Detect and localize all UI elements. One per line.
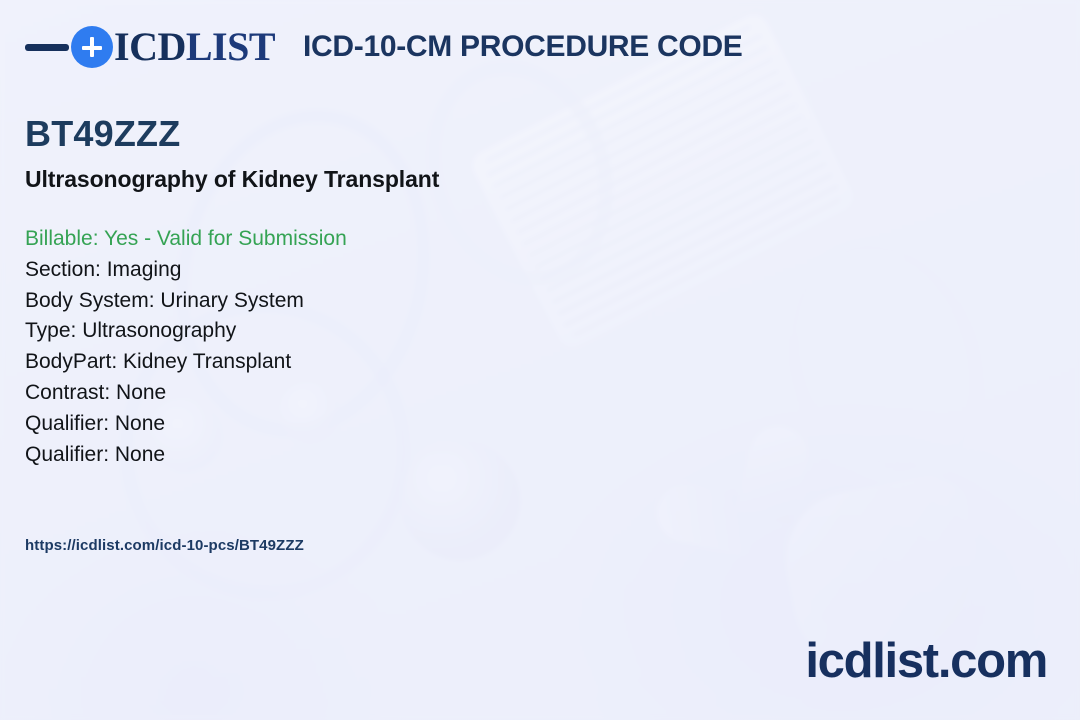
detail-line: BodyPart: Kidney Transplant [25,347,347,378]
billable-status: Billable: Yes - Valid for Submission [25,224,347,255]
detail-line: Contrast: None [25,378,347,409]
logo-word-list: LIST [186,24,275,69]
detail-line: Qualifier: None [25,440,347,471]
procedure-detail-list: Billable: Yes - Valid for SubmissionSect… [25,224,347,470]
logo-word-icd: ICD [114,24,186,69]
procedure-description: Ultrasonography of Kidney Transplant [25,166,439,193]
procedure-code: BT49ZZZ [25,113,180,155]
detail-line: Section: Imaging [25,255,347,286]
plus-icon [71,26,113,68]
dash-icon [25,44,69,51]
logo-wordmark: ICDLIST [114,27,275,67]
footer-brand: icdlist.com [805,633,1047,689]
page-header: ICDLIST ICD-10-CM PROCEDURE CODE [25,26,743,68]
detail-line: Qualifier: None [25,409,347,440]
detail-line: Type: Ultrasonography [25,316,347,347]
page-title: ICD-10-CM PROCEDURE CODE [303,30,743,64]
source-url: https://icdlist.com/icd-10-pcs/BT49ZZZ [25,537,304,554]
icdlist-logo[interactable]: ICDLIST [25,26,275,68]
detail-line: Body System: Urinary System [25,286,347,317]
